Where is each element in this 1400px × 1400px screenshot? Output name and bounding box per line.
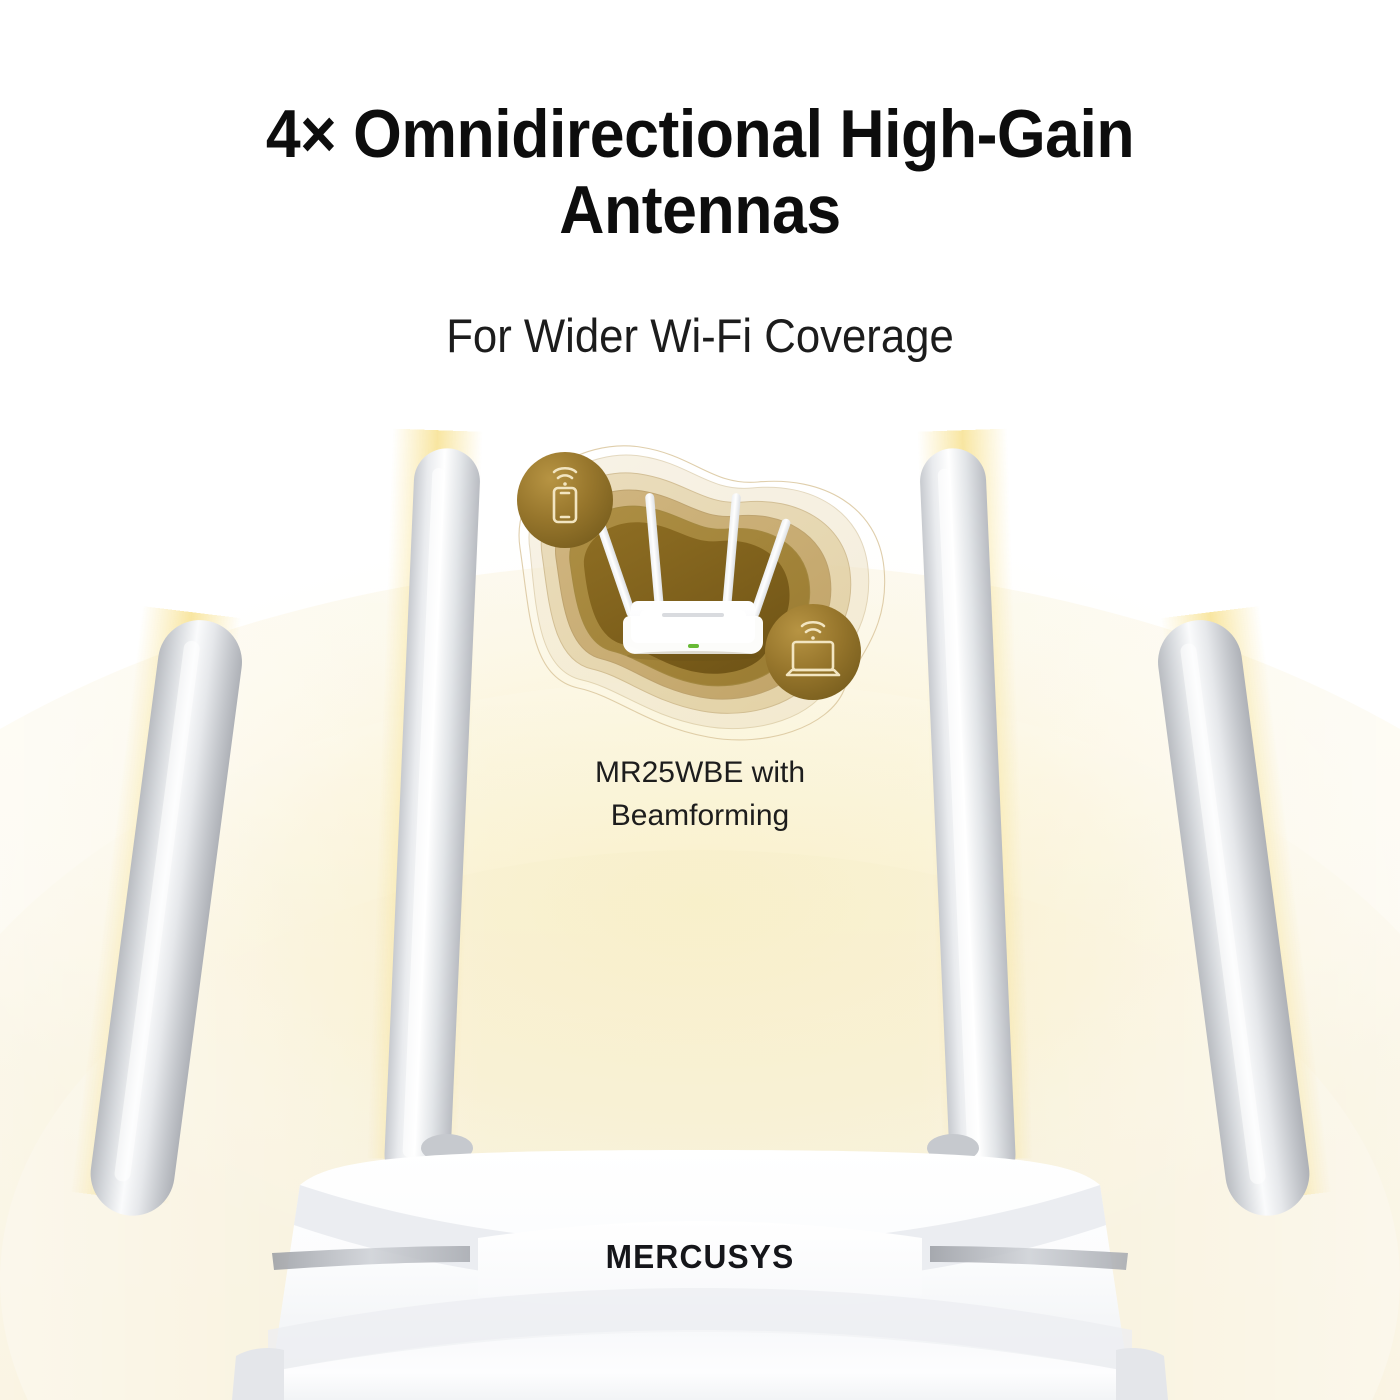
router-left-stub bbox=[232, 1348, 284, 1400]
antenna-outer-right bbox=[1153, 615, 1315, 1221]
antenna-group bbox=[86, 447, 1315, 1221]
antenna-inner-left bbox=[383, 447, 481, 1189]
antenna-outer-left bbox=[86, 615, 248, 1221]
router-right-stub bbox=[1116, 1348, 1168, 1400]
product-router bbox=[0, 0, 1400, 1400]
brand-wordmark: MERCUSYS bbox=[28, 1238, 1372, 1276]
antenna-inner-right bbox=[919, 447, 1017, 1189]
product-feature-banner: 4× Omnidirectional High-Gain Antennas Fo… bbox=[0, 0, 1400, 1400]
